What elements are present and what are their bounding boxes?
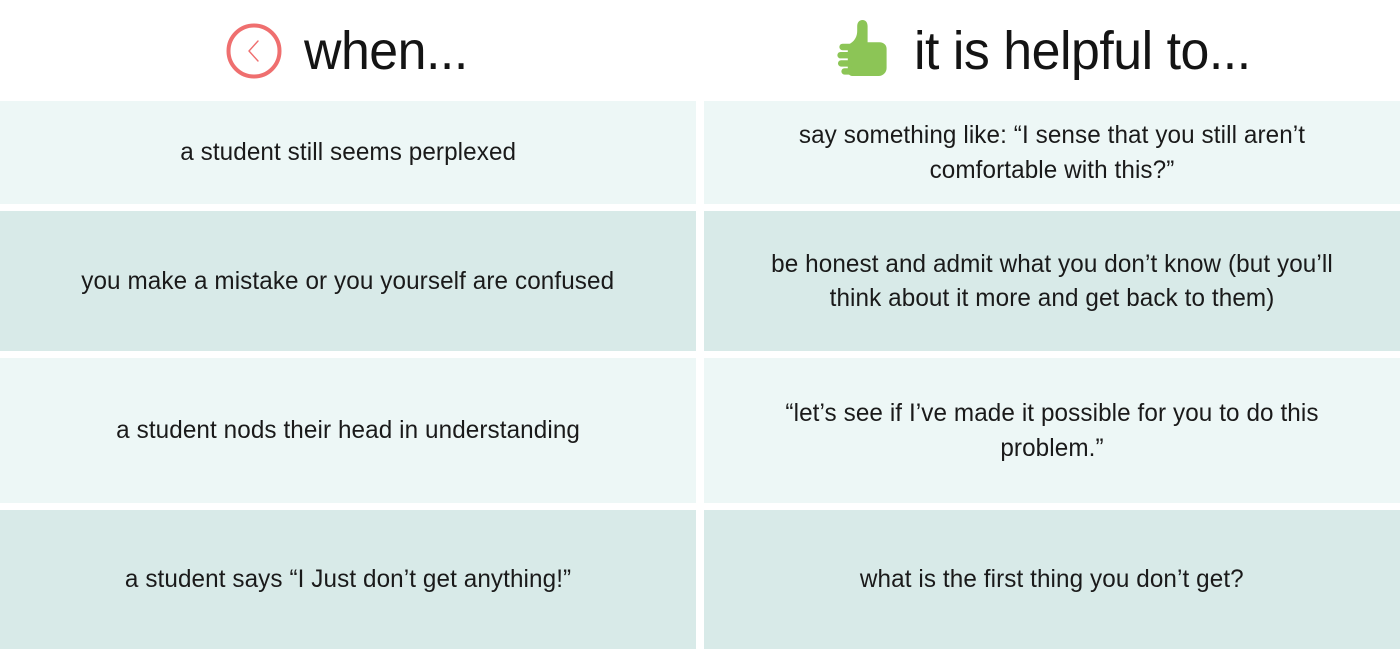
cell-helpful-3: “let’s see if I’ve made it possible for … (704, 358, 1400, 503)
header-cell-when: when... (0, 0, 700, 101)
table-row: a student nods their head in understandi… (0, 358, 1400, 503)
cell-text: a student says “I Just don’t get anythin… (125, 562, 571, 597)
header-cell-helpful: it is helpful to... (700, 0, 1400, 101)
cell-helpful-1: say something like: “I sense that you st… (704, 101, 1400, 204)
infographic-table: when... it is helpful to... (0, 0, 1400, 652)
cell-when-2: you make a mistake or you yourself are c… (0, 211, 696, 351)
cell-helpful-4: what is the first thing you don’t get? (704, 510, 1400, 649)
cell-when-4: a student says “I Just don’t get anythin… (0, 510, 696, 649)
table-row: a student says “I Just don’t get anythin… (0, 510, 1400, 649)
cell-text: be honest and admit what you don’t know … (747, 247, 1356, 316)
cell-text: a student still seems perplexed (180, 135, 516, 170)
table-body: a student still seems perplexed say some… (0, 101, 1400, 656)
table-row: you make a mistake or you yourself are c… (0, 211, 1400, 351)
cell-text: you make a mistake or you yourself are c… (82, 264, 615, 299)
cell-text: say something like: “I sense that you st… (747, 118, 1356, 187)
cell-when-3: a student nods their head in understandi… (0, 358, 696, 503)
header-title-when: when... (304, 24, 468, 78)
cell-text: what is the first thing you don’t get? (860, 562, 1244, 597)
table-header: when... it is helpful to... (0, 0, 1400, 101)
cell-text: “let’s see if I’ve made it possible for … (747, 396, 1356, 465)
circle-back-chevron-icon (224, 21, 284, 81)
header-title-helpful: it is helpful to... (914, 24, 1251, 78)
thumbs-up-icon (832, 18, 894, 84)
cell-when-1: a student still seems perplexed (0, 101, 696, 204)
cell-helpful-2: be honest and admit what you don’t know … (704, 211, 1400, 351)
cell-text: a student nods their head in understandi… (116, 413, 580, 448)
table-row: a student still seems perplexed say some… (0, 101, 1400, 204)
